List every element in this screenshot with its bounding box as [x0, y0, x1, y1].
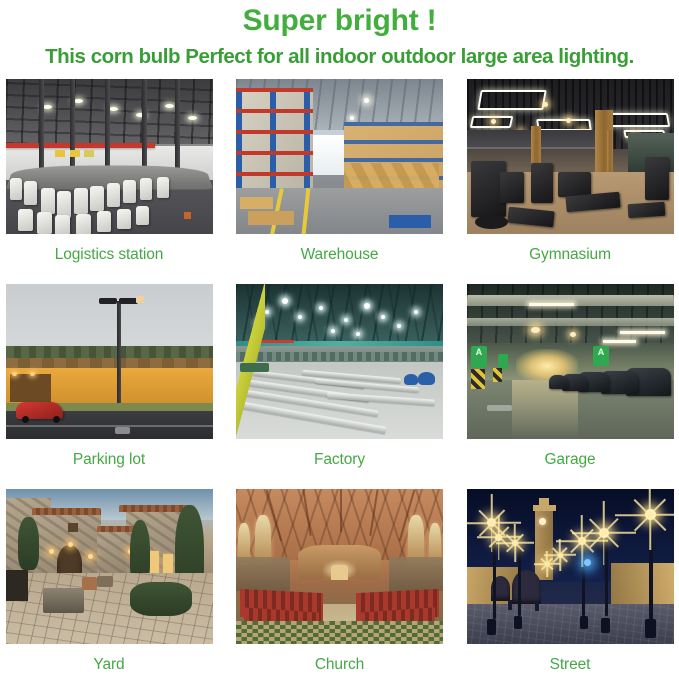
light-ray: [649, 489, 651, 515]
scene-caption-factory: Factory: [314, 451, 365, 469]
light-ray: [603, 501, 605, 533]
scene-cell-gymnasium[interactable]: Gymnasium: [464, 79, 676, 284]
light-ray: [498, 537, 500, 559]
scene-cell-factory[interactable]: Factory: [234, 284, 446, 489]
light-ray: [615, 514, 650, 516]
scene-image-garage: A A: [467, 284, 674, 439]
scene-caption-yard: Yard: [93, 656, 124, 674]
scene-cell-warehouse[interactable]: Warehouse: [234, 79, 446, 284]
light-ray: [492, 522, 521, 524]
light-ray: [491, 494, 493, 523]
light-ray: [515, 542, 534, 544]
scene-grid: Logistics station Warehouse: [0, 79, 679, 675]
page-subtitle: This corn bulb Perfect for all indoor ou…: [0, 38, 679, 70]
scene-cell-parking-lot[interactable]: Parking lot: [3, 284, 215, 489]
light-ray: [650, 514, 673, 516]
scene-caption-church: Church: [315, 656, 364, 674]
garage-zone-sign-a: A: [471, 346, 488, 368]
scene-image-logistics-station: [6, 79, 213, 234]
light-ray: [604, 532, 636, 534]
scene-cell-garage[interactable]: A A Garage: [464, 284, 676, 489]
scene-caption-warehouse: Warehouse: [301, 246, 379, 264]
scene-cell-yard[interactable]: Yard: [3, 489, 215, 675]
scene-image-parking-lot: [6, 284, 213, 439]
scene-caption-garage: Garage: [544, 451, 595, 469]
light-ray: [467, 522, 492, 524]
scene-caption-parking-lot: Parking lot: [73, 451, 145, 469]
scene-image-warehouse: [236, 79, 443, 234]
scene-image-street: [467, 489, 674, 644]
page-title: Super bright !: [0, 0, 679, 38]
scene-image-church: [236, 489, 443, 644]
light-ray: [514, 543, 516, 562]
light-ray: [572, 532, 604, 534]
scene-image-factory: [236, 284, 443, 439]
scene-image-yard: [6, 489, 213, 644]
scene-caption-gymnasium: Gymnasium: [529, 246, 611, 264]
light-ray: [496, 542, 515, 544]
scene-cell-logistics-station[interactable]: Logistics station: [3, 79, 215, 284]
scene-cell-church[interactable]: Church: [234, 489, 446, 675]
light-ray: [603, 533, 605, 565]
scene-caption-street: Street: [550, 656, 591, 674]
poster-page: Super bright ! This corn bulb Perfect fo…: [0, 0, 679, 693]
scene-caption-logistics-station: Logistics station: [55, 246, 164, 264]
light-ray: [649, 515, 651, 550]
light-ray: [582, 541, 584, 567]
scene-image-gymnasium: [467, 79, 674, 234]
garage-zone-sign-c: A: [593, 346, 610, 366]
scene-cell-street[interactable]: Street: [464, 489, 676, 675]
